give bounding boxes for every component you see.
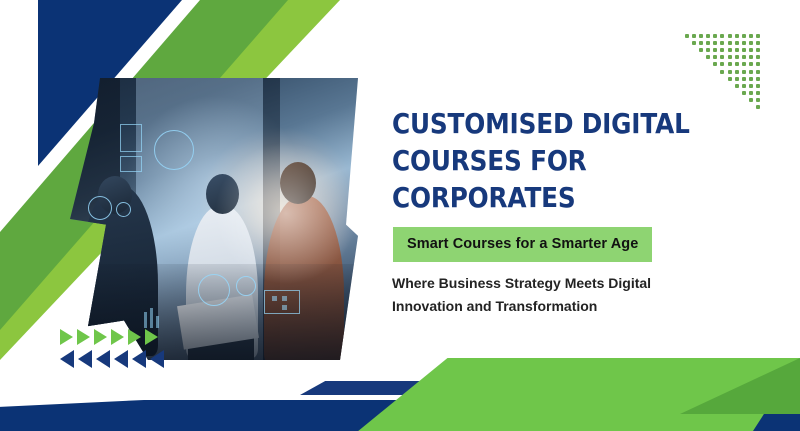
dot-row	[683, 90, 762, 97]
dot	[728, 41, 732, 45]
dot	[713, 62, 717, 66]
dot	[742, 70, 746, 74]
dot	[742, 48, 746, 52]
dot	[749, 98, 753, 102]
dot	[685, 34, 689, 38]
dot	[749, 48, 753, 52]
dot	[713, 55, 717, 59]
arrow-right-icon	[94, 329, 107, 345]
dot	[735, 84, 739, 88]
dot	[735, 62, 739, 66]
dot	[756, 41, 760, 45]
dot	[735, 55, 739, 59]
dot	[749, 70, 753, 74]
dot	[692, 34, 696, 38]
dot	[749, 41, 753, 45]
dot-row	[683, 61, 762, 68]
arrow-left-icon	[114, 350, 128, 368]
subtitle-text: Where Business Strategy Meets Digital In…	[392, 272, 722, 317]
dot	[756, 84, 760, 88]
arrow-right-icon	[60, 329, 73, 345]
page-title: Customised Digital Courses for Corporate…	[392, 106, 725, 217]
dot-row	[683, 54, 762, 61]
arrow-right-icon	[111, 329, 124, 345]
dot	[735, 70, 739, 74]
dot-row	[683, 46, 762, 53]
dot	[706, 34, 710, 38]
tagline-text: Smart Courses for a Smarter Age	[407, 236, 638, 252]
arrow-left-icon	[60, 350, 74, 368]
dot	[720, 62, 724, 66]
dot	[728, 70, 732, 74]
dot	[728, 34, 732, 38]
dot	[749, 84, 753, 88]
dot	[699, 48, 703, 52]
dot	[713, 48, 717, 52]
dot-row	[683, 32, 762, 39]
dot	[756, 98, 760, 102]
dot-row	[683, 39, 762, 46]
dot	[749, 55, 753, 59]
dot	[749, 77, 753, 81]
dot	[728, 62, 732, 66]
dot	[749, 34, 753, 38]
dot	[728, 48, 732, 52]
dot	[735, 34, 739, 38]
arrow-left-icon	[150, 350, 164, 368]
dot-row	[683, 97, 762, 104]
dot	[756, 105, 760, 109]
dot	[720, 55, 724, 59]
arrow-row-navy	[60, 350, 168, 368]
dot	[713, 34, 717, 38]
hero-photo	[58, 78, 358, 360]
dot	[728, 77, 732, 81]
dot	[720, 41, 724, 45]
dot	[742, 41, 746, 45]
arrow-left-icon	[132, 350, 146, 368]
dot	[756, 77, 760, 81]
dot	[742, 77, 746, 81]
dot	[699, 34, 703, 38]
arrow-right-icon	[77, 329, 90, 345]
dot-row	[683, 82, 762, 89]
dot	[735, 77, 739, 81]
arrow-left-icon	[78, 350, 92, 368]
dot	[749, 91, 753, 95]
dot	[756, 55, 760, 59]
dot	[713, 41, 717, 45]
dot	[756, 62, 760, 66]
dot-row	[683, 68, 762, 75]
dot	[756, 48, 760, 52]
arrow-left-icon	[96, 350, 110, 368]
dot	[749, 62, 753, 66]
arrow-right-icon	[145, 329, 158, 345]
dot	[756, 34, 760, 38]
dot	[756, 91, 760, 95]
dot	[728, 55, 732, 59]
dot	[742, 62, 746, 66]
dot	[756, 70, 760, 74]
dot	[720, 48, 724, 52]
dot	[720, 34, 724, 38]
tagline-highlight: Smart Courses for a Smarter Age	[393, 227, 652, 262]
dot	[742, 55, 746, 59]
dot-triangle-decoration	[683, 32, 762, 111]
arrow-right-icon	[128, 329, 141, 345]
dot	[706, 48, 710, 52]
dot	[742, 84, 746, 88]
dot	[692, 41, 696, 45]
dot	[706, 55, 710, 59]
dot	[742, 91, 746, 95]
dot	[735, 48, 739, 52]
dot	[742, 34, 746, 38]
photo-sun-glow	[58, 78, 358, 360]
dot-row	[683, 75, 762, 82]
arrow-row-green	[60, 329, 162, 345]
dot	[699, 41, 703, 45]
dot	[706, 41, 710, 45]
promotional-banner: Customised Digital Courses for Corporate…	[0, 0, 800, 431]
dot	[735, 41, 739, 45]
dot	[720, 70, 724, 74]
